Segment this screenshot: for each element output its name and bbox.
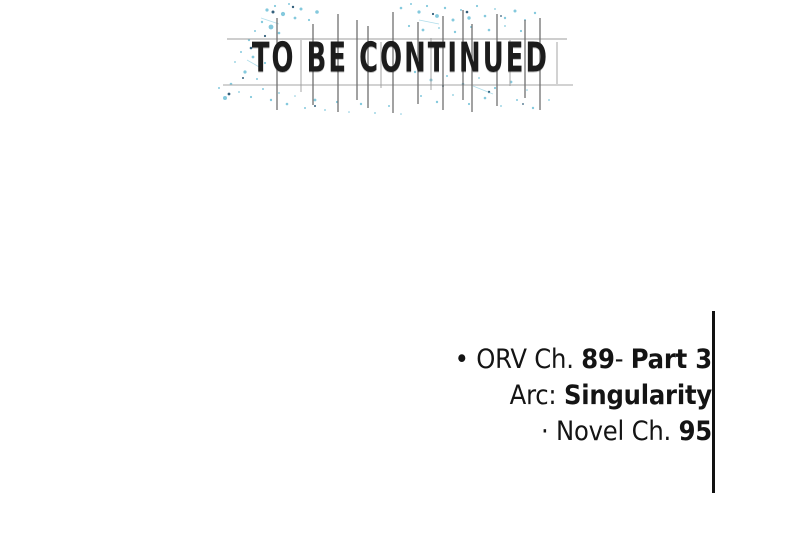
to-be-continued-banner: TO BE CONTINUED bbox=[205, 0, 595, 125]
chapter-info-vertical-rule bbox=[712, 311, 715, 493]
novel-info-line: · Novel Ch. 95 bbox=[382, 414, 712, 450]
chapter-part: Part 3 bbox=[631, 344, 712, 375]
chapter-separator: - bbox=[615, 344, 631, 375]
chapter-number: 89 bbox=[581, 344, 614, 375]
to-be-continued-title: TO BE CONTINUED bbox=[205, 0, 595, 125]
arc-info-line: Arc: Singularity bbox=[382, 378, 712, 414]
bullet-icon: • bbox=[455, 344, 469, 375]
chapter-label-plain: ORV Ch. bbox=[469, 344, 582, 375]
grid-lines-decoration bbox=[205, 0, 595, 125]
chapter-info-block: • ORV Ch. 89- Part 3 Arc: Singularity · … bbox=[382, 342, 712, 450]
novel-chapter-number: 95 bbox=[679, 416, 712, 447]
arc-label: Arc: bbox=[510, 380, 564, 411]
to-be-continued-title-text: TO BE CONTINUED bbox=[251, 36, 548, 79]
chapter-info-line: • ORV Ch. 89- Part 3 bbox=[382, 342, 712, 378]
paint-splatter-icon bbox=[205, 0, 595, 125]
novel-label: Novel Ch. bbox=[548, 416, 678, 447]
arc-name: Singularity bbox=[564, 380, 712, 411]
